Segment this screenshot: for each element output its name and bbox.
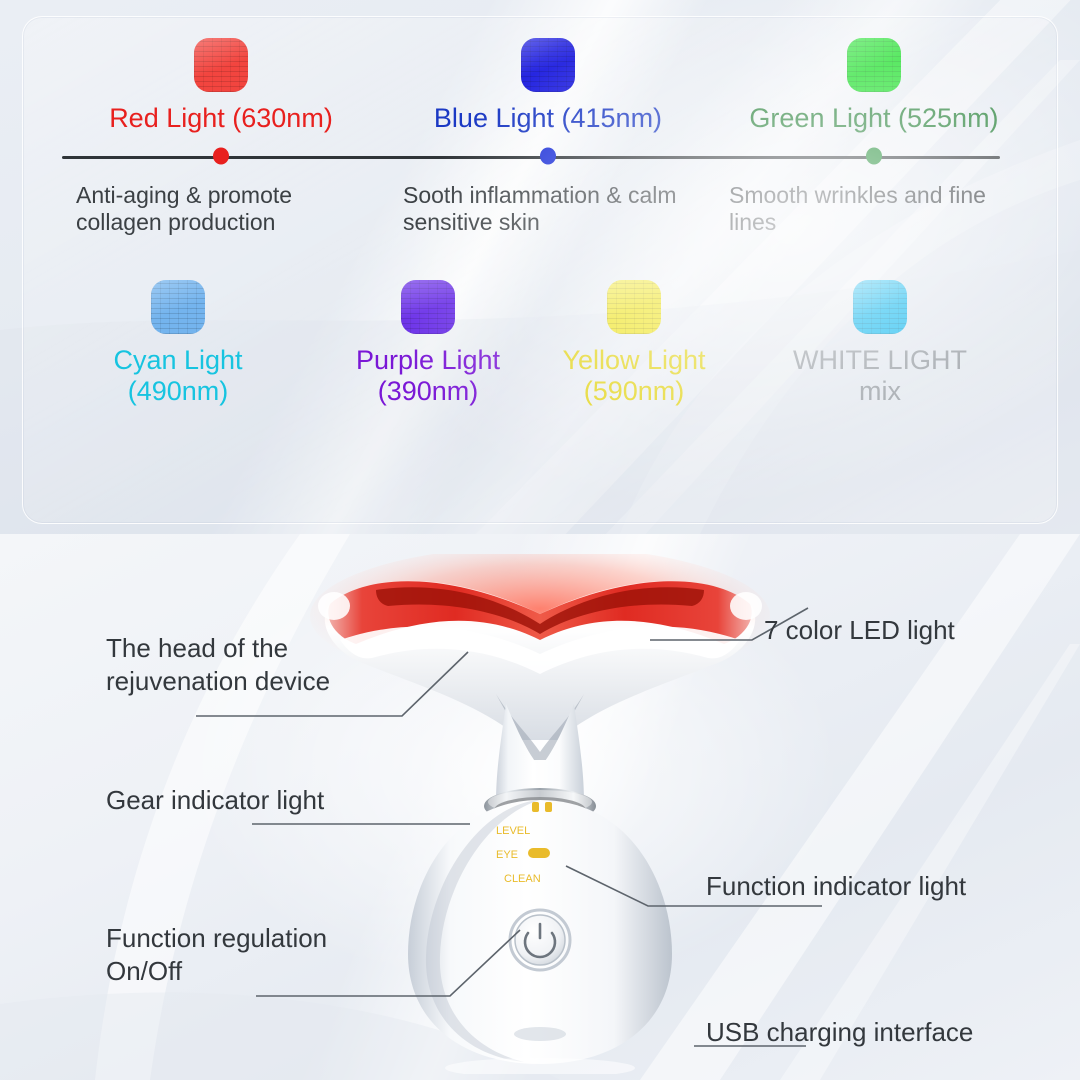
light-title-cyan: Cyan Light: [48, 345, 308, 375]
callout-led: 7 color LED light: [764, 614, 955, 647]
level-bar-1: [532, 802, 539, 812]
panel-label-clean: CLEAN: [504, 873, 541, 885]
panel-label-eye: EYE: [496, 849, 518, 861]
axis-dot-red: [213, 148, 229, 165]
light-cell-white: WHITE LIGHT mix: [752, 280, 1008, 406]
device-reflection: [445, 1058, 635, 1074]
panel-label-level: LEVEL: [496, 825, 530, 837]
callout-function: Function indicator light: [706, 870, 966, 903]
light-wavelength-yellow: (590nm): [514, 376, 754, 406]
swatch-red: [194, 38, 248, 92]
light-desc-red: Anti-aging & promote collagen production: [76, 182, 366, 236]
light-therapy-panel: Red Light (630nm) Anti-aging & promote c…: [0, 0, 1080, 534]
swatch-blue: [521, 38, 575, 92]
callout-power: Function regulation On/Off: [106, 922, 426, 989]
light-cell-red: Red Light (630nm): [76, 38, 366, 133]
head-tip-right: [730, 592, 762, 620]
light-cell-green: Green Light (525nm): [729, 38, 1019, 133]
light-desc-green: Smooth wrinkles and fine lines: [729, 182, 1019, 236]
light-cell-purple: Purple Light (390nm): [308, 280, 548, 406]
swatch-cyan: [151, 280, 205, 334]
light-wavelength-cyan: (490nm): [48, 376, 308, 406]
callout-usb: USB charging interface: [706, 1016, 973, 1049]
eye-indicator-pill: [528, 848, 550, 858]
light-title-green: Green Light (525nm): [729, 103, 1019, 133]
head-tip-left: [318, 592, 350, 620]
light-desc-blue: Sooth inflammation & calm sensitive skin: [403, 182, 693, 236]
swatch-white: [853, 280, 907, 334]
light-cell-yellow: Yellow Light (590nm): [514, 280, 754, 406]
device-diagram-panel: LEVEL EYE CLEAN: [0, 534, 1080, 1080]
light-title-blue: Blue Light (415nm): [403, 103, 693, 133]
light-title-purple: Purple Light: [308, 345, 548, 375]
swatch-yellow: [607, 280, 661, 334]
swatch-purple: [401, 280, 455, 334]
light-title-red: Red Light (630nm): [76, 103, 366, 133]
light-wavelength-purple: (390nm): [308, 376, 548, 406]
axis-dot-blue: [540, 148, 556, 165]
row1-axis-line: [62, 156, 1000, 159]
light-cell-cyan: Cyan Light (490nm): [48, 280, 308, 406]
callout-gear: Gear indicator light: [106, 784, 324, 817]
usb-port: [514, 1027, 566, 1041]
light-cell-blue: Blue Light (415nm): [403, 38, 693, 133]
light-title-yellow: Yellow Light: [514, 345, 754, 375]
light-wavelength-white: mix: [752, 376, 1008, 406]
light-title-white: WHITE LIGHT: [752, 345, 1008, 375]
axis-dot-green: [866, 148, 882, 165]
swatch-green: [847, 38, 901, 92]
callout-head: The head of the rejuvenation device: [106, 632, 406, 699]
level-bar-2: [545, 802, 552, 812]
